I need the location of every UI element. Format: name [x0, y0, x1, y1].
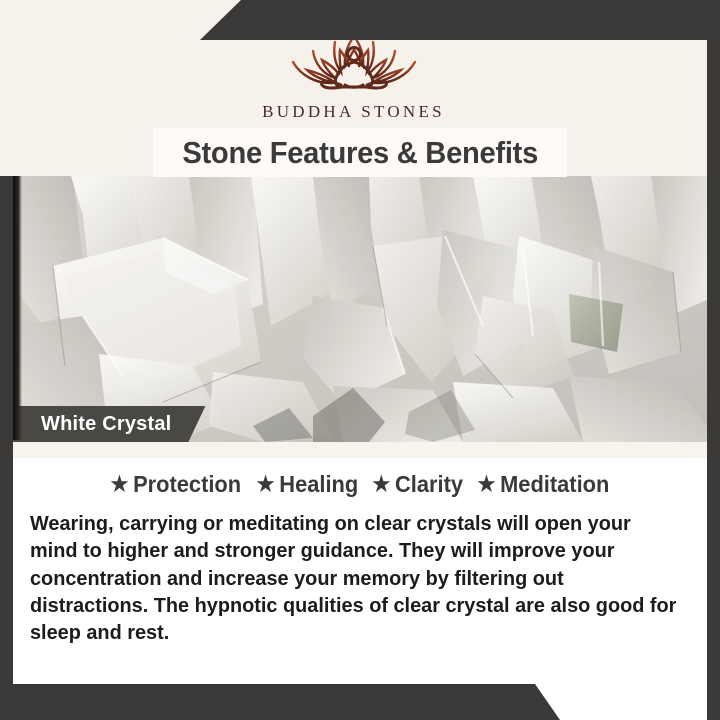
status-badge: White Crystal	[13, 406, 205, 442]
content-section: ★ Protection ★ Healing ★ Clarity ★ Medit…	[13, 458, 707, 684]
frame-bottom-bar	[0, 684, 560, 720]
benefit-item-healing: ★ Healing	[256, 471, 358, 498]
frame-left-bar	[0, 176, 13, 720]
title-banner: Stone Features & Benefits	[153, 128, 567, 177]
description-text: Wearing, carrying or meditating on clear…	[30, 510, 678, 646]
benefit-item-clarity: ★ Clarity	[372, 471, 463, 498]
benefit-label: Clarity	[395, 471, 463, 498]
star-icon: ★	[372, 474, 390, 495]
frame-top-bar	[200, 0, 720, 40]
star-icon: ★	[111, 474, 129, 495]
stone-name-label: White Crystal	[41, 413, 171, 436]
benefit-label: Healing	[279, 471, 358, 498]
benefit-label: Meditation	[500, 471, 609, 498]
frame-right-bar	[707, 0, 720, 720]
benefit-item-protection: ★ Protection	[111, 471, 242, 498]
benefit-label: Protection	[133, 471, 241, 498]
star-icon: ★	[478, 474, 496, 495]
star-icon: ★	[256, 474, 274, 495]
frame-left-shadow	[13, 176, 22, 440]
page-title: Stone Features & Benefits	[182, 135, 538, 171]
brand-name: BUDDHA STONES	[262, 102, 445, 122]
product-info-card: BUDDHA STONES Stone Features & Benefits	[0, 0, 720, 720]
benefit-item-meditation: ★ Meditation	[478, 471, 610, 498]
content-divider	[13, 442, 707, 458]
white-crystal-cluster-photo	[13, 176, 707, 442]
benefits-list: ★ Protection ★ Healing ★ Clarity ★ Medit…	[13, 458, 707, 504]
brand-logo: BUDDHA STONES	[0, 26, 707, 122]
